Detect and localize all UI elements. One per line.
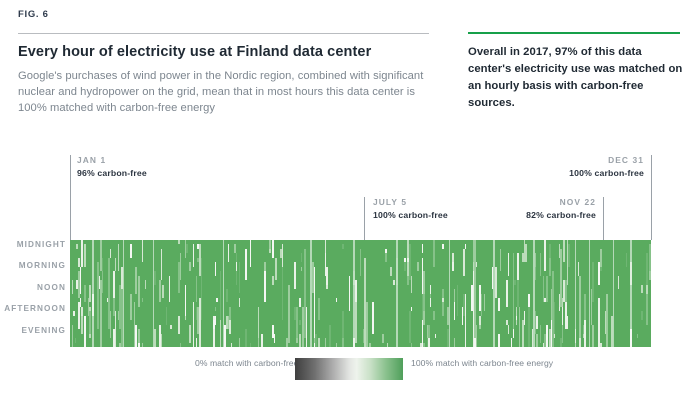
heatmap-cell-block <box>154 329 156 347</box>
heatmap-cell-block <box>649 244 651 271</box>
heatmap-cell-block <box>226 289 228 302</box>
heatmap-cell-block <box>102 258 104 271</box>
y-axis-label-noon: NOON <box>0 281 66 302</box>
heatmap-cell-block <box>154 271 156 284</box>
heatmap-cell-block <box>84 285 86 303</box>
legend-max-label: 100% match with carbon-free energy <box>411 357 521 369</box>
heatmap-cell-block <box>161 334 163 347</box>
heatmap-cell-block <box>264 271 266 302</box>
heatmap-low-match-day <box>613 240 615 347</box>
heatmap-cell-block <box>215 307 217 311</box>
heatmap-low-match-day <box>310 240 312 347</box>
heatmap-cell-block <box>372 302 374 333</box>
heatmap-cell-block <box>80 267 82 294</box>
heatmap-cell-block <box>433 311 435 320</box>
heatmap-cell-block <box>513 329 515 338</box>
heatmap-low-match-day <box>153 240 155 347</box>
heatmap-low-match-day <box>92 240 94 347</box>
heatmap-cell-block <box>385 249 387 253</box>
heatmap-cell-block <box>180 253 182 280</box>
heatmap-cell-block <box>89 311 91 333</box>
heatmap-cell-block <box>97 262 99 329</box>
heatmap-cell-block <box>559 307 561 311</box>
figure-callout: Overall in 2017, 97% of this data center… <box>468 44 684 112</box>
figure-subtitle: Google's purchases of wind power in the … <box>18 68 430 117</box>
annotation-value: 96% carbon-free <box>77 168 147 178</box>
heatmap-cell-block <box>138 329 140 342</box>
heatmap-cell-block <box>110 249 112 258</box>
heatmap-cell-block <box>387 343 389 347</box>
heatmap-cell-block <box>215 316 217 325</box>
callout-accent-rule <box>468 32 680 34</box>
heatmap-cell-block <box>498 298 500 311</box>
heatmap-cell-block <box>180 343 182 347</box>
heatmap-cell-block <box>220 320 222 347</box>
heatmap-cell-block <box>336 298 338 302</box>
heatmap-cell-block <box>336 343 338 347</box>
heatmap-cell-block <box>567 316 569 329</box>
heatmap-cell-block <box>306 307 308 347</box>
heatmap-cell-block <box>465 244 467 248</box>
annotation-nov-22: NOV 22 82% carbon-free <box>465 197 596 220</box>
heatmap-cell-block <box>562 307 564 325</box>
heatmap-cell-block <box>433 240 435 267</box>
heatmap-cell-block <box>592 325 594 347</box>
heatmap-cell-block <box>479 316 481 325</box>
annotation-july-5: JULY 5 100% carbon-free <box>373 197 448 220</box>
heatmap-cell-block <box>618 276 620 289</box>
heatmap-cell-block <box>130 244 132 257</box>
heatmap-cell-block <box>528 307 530 347</box>
heatmap-cell-block <box>540 253 542 275</box>
heatmap-low-match-day <box>589 240 591 347</box>
heatmap-cell-block <box>454 338 456 347</box>
heatmap-low-match-day <box>123 240 125 347</box>
heatmap-cell-block <box>536 334 538 347</box>
heatmap-cell-block <box>185 285 187 316</box>
heatmap-cell-block <box>481 294 483 316</box>
annotation-date: JULY 5 <box>373 197 448 207</box>
heatmap-cell-block <box>325 338 327 347</box>
heatmap-cell-block <box>476 325 478 347</box>
heatmap-cell-block <box>349 276 351 312</box>
heatmap-cell-block <box>457 285 459 316</box>
heatmap-cell-block <box>228 244 230 262</box>
annotation-jan-1: JAN 1 96% carbon-free <box>77 155 147 178</box>
heatmap-cell-block <box>299 298 301 307</box>
heatmap-cell-block <box>231 343 233 347</box>
heatmap-cell-block <box>536 316 538 329</box>
heatmap-cell-block <box>81 316 83 334</box>
heatmap-cell-block <box>135 267 137 294</box>
heatmap-cell-block <box>166 307 168 325</box>
heatmap-cell-block <box>626 253 628 266</box>
heatmap-cell-block <box>546 325 548 347</box>
heatmap-cell-block <box>250 343 252 347</box>
heatmap-cell-block <box>479 325 481 329</box>
heatmap-cell-block <box>525 244 527 262</box>
heatmap-cell-block <box>118 244 120 271</box>
heatmap-cell-block <box>299 334 301 347</box>
heatmap-cell-block <box>646 253 648 284</box>
heatmap-low-match-day <box>630 240 632 347</box>
heatmap-cell-block <box>84 244 86 266</box>
heatmap-cell-block <box>454 289 456 302</box>
heatmap-cell-block <box>366 302 368 347</box>
heatmap-cell-block <box>646 294 648 325</box>
y-axis-labels: MIDNIGHT MORNING NOON AFTERNOON EVENING <box>0 238 66 345</box>
heatmap-cell-block <box>423 343 425 347</box>
heatmap-cell-block <box>422 244 424 253</box>
heatmap-cell-block <box>430 294 432 298</box>
heatmap-cell-block <box>193 302 195 347</box>
heatmap-cell-block <box>411 343 413 347</box>
annotation-tick-nov-22 <box>603 197 604 240</box>
heatmap-cell-block <box>170 325 172 329</box>
y-axis-label-midnight: MIDNIGHT <box>0 238 66 259</box>
heatmap-cell-block <box>329 325 331 347</box>
heatmap-cell-block <box>142 343 144 347</box>
heatmap-cell-block <box>196 276 198 303</box>
heatmap-cell-block <box>554 302 556 333</box>
heatmap-cell-block <box>239 298 241 307</box>
heatmap-cell-block <box>282 258 284 320</box>
annotation-value: 100% carbon-free <box>510 168 644 178</box>
heatmap-cell-block <box>159 280 161 302</box>
heatmap-cell-block <box>236 262 238 271</box>
heatmap-cell-block <box>409 311 411 342</box>
heatmap-cell-block <box>274 334 276 343</box>
heatmap-cell-block <box>81 240 83 267</box>
heatmap-cell-block <box>102 271 104 293</box>
heatmap-cell-block <box>540 325 542 343</box>
annotation-date: NOV 22 <box>465 197 596 207</box>
heatmap-cell-block <box>318 338 320 347</box>
heatmap-cell-block <box>562 325 564 343</box>
heatmap-cell-block <box>178 240 180 244</box>
heatmap-cell-block <box>215 262 217 275</box>
heatmap-cell-block <box>115 311 117 347</box>
heatmap-cell-block <box>84 316 86 347</box>
heatmap-cell-block <box>465 294 467 348</box>
annotation-tick-july-5 <box>364 197 365 240</box>
header-divider <box>18 33 429 34</box>
heatmap-cell-block <box>275 258 277 280</box>
heatmap-cell-block <box>404 262 406 271</box>
heatmap-cell-block <box>423 294 425 312</box>
y-axis-label-evening: EVENING <box>0 324 66 345</box>
heatmap-cell-block <box>428 338 430 347</box>
y-axis-label-afternoon: AFTERNOON <box>0 302 66 323</box>
heatmap-cell-block <box>72 325 74 347</box>
heatmap-cell-block <box>239 338 241 347</box>
heatmap-cell-block <box>89 285 91 303</box>
heatmap-cell-block <box>454 302 456 320</box>
y-axis-label-morning: MORNING <box>0 259 66 280</box>
heatmap-cell-block <box>514 280 516 284</box>
heatmap-cell-block <box>508 325 510 334</box>
annotation-dec-31: DEC 31 100% carbon-free <box>510 155 644 178</box>
heatmap-cell-block <box>355 280 357 302</box>
heatmap-cell-block <box>500 249 502 271</box>
heatmap-cell-block <box>78 258 80 267</box>
heatmap-cell-block <box>355 302 357 342</box>
heatmap-cell-block <box>606 294 608 348</box>
heatmap-cell-block <box>411 276 413 294</box>
heatmap-cell-block <box>272 240 274 258</box>
heatmap-cell-block <box>315 334 317 347</box>
heatmap-cell-block <box>169 276 171 303</box>
heatmap-cell-block <box>229 307 231 320</box>
heatmap-cell-block <box>142 298 144 302</box>
annotation-tick-jan-1 <box>70 155 71 240</box>
heatmap-cell-block <box>72 280 74 293</box>
heatmap-low-match-day <box>493 240 495 347</box>
heatmap-cell-block <box>563 240 565 262</box>
heatmap-cell-block <box>326 285 328 289</box>
heatmap-cell-block <box>584 294 586 321</box>
heatmap-cell-block <box>390 267 392 276</box>
colorscale-legend: 0% match with carbon-free energy 100% ma… <box>195 357 515 387</box>
heatmap-low-match-day <box>396 240 398 347</box>
heatmap-cell-block <box>598 298 600 347</box>
heatmap-cell-block <box>110 311 112 338</box>
heatmap-cell-block <box>417 262 419 271</box>
heatmap-cell-block <box>508 253 510 275</box>
heatmap-cell-block <box>250 240 252 267</box>
annotation-value: 100% carbon-free <box>373 210 448 220</box>
heatmap-low-match-day <box>223 240 225 347</box>
hourly-match-heatmap <box>70 240 651 347</box>
heatmap-cell-block <box>519 307 521 325</box>
heatmap-cell-block <box>474 240 476 338</box>
heatmap-cell-block <box>245 249 247 280</box>
heatmap-cell-block <box>301 253 303 262</box>
heatmap-cell-block <box>369 343 371 347</box>
heatmap-cell-block <box>258 338 260 342</box>
heatmap-cell-block <box>296 338 298 342</box>
heatmap-cell-block <box>115 258 117 271</box>
heatmap-cell-block <box>411 307 413 311</box>
heatmap-cell-block <box>637 334 639 338</box>
heatmap-cell-block <box>579 311 581 338</box>
legend-min-label: 0% match with carbon-free energy <box>195 357 287 369</box>
heatmap-cell-block <box>546 276 548 303</box>
heatmap-cell-block <box>524 311 526 324</box>
heatmap-cell-block <box>495 267 497 298</box>
figure-label: FIG. 6 <box>18 9 49 20</box>
heatmap-cell-block <box>511 338 513 347</box>
legend-gradient-bar <box>295 358 403 380</box>
heatmap-cell-block <box>452 262 454 271</box>
heatmap-cell-block <box>189 325 191 343</box>
heatmap-cell-block <box>592 262 594 302</box>
annotation-value: 82% carbon-free <box>465 210 596 220</box>
heatmap-cell-block <box>516 316 518 320</box>
heatmap-cell-block <box>463 249 465 276</box>
heatmap-cell-block <box>393 280 395 284</box>
annotation-tick-dec-31 <box>651 155 652 240</box>
heatmap-cell-block <box>506 280 508 307</box>
heatmap-cell-block <box>145 280 147 289</box>
heatmap-low-match-day <box>449 240 451 347</box>
heatmap-cell-block <box>261 334 263 347</box>
heatmap-cell-block <box>544 240 546 271</box>
heatmap-cell-block <box>161 249 163 280</box>
heatmap-cell-block <box>186 244 188 253</box>
heatmap-cell-block <box>641 311 643 320</box>
heatmap-cell-block <box>442 298 444 302</box>
heatmap-cell-block <box>301 267 303 271</box>
heatmap-cell-block <box>484 294 486 312</box>
heatmap-low-match-day <box>575 240 577 347</box>
heatmap-cell-block <box>360 249 362 276</box>
heatmap-cell-block <box>239 262 241 293</box>
heatmap-cell-block <box>178 316 180 334</box>
heatmap-cell-block <box>142 240 144 262</box>
heatmap-cell-block <box>600 249 602 267</box>
heatmap-cell-block <box>201 258 203 320</box>
heatmap-cell-block <box>326 267 328 285</box>
heatmap-cell-block <box>75 338 77 342</box>
heatmap-cell-block <box>80 298 82 307</box>
heatmap-cell-block <box>269 249 271 253</box>
heatmap-cell-block <box>442 244 444 248</box>
annotation-date: JAN 1 <box>77 155 147 165</box>
heatmap-cell-block <box>517 276 519 307</box>
heatmap-cell-block <box>216 298 218 302</box>
heatmap-cell-block <box>498 334 500 347</box>
heatmap-cell-block <box>272 276 274 285</box>
heatmap-cell-block <box>517 253 519 280</box>
heatmap-cell-block <box>442 289 444 316</box>
heatmap-cell-block <box>554 334 556 338</box>
heatmap-cell-block <box>288 285 290 339</box>
heatmap-cell-block <box>73 311 75 315</box>
heatmap-cell-block <box>385 253 387 262</box>
figure-panel: FIG. 6 Every hour of electricity use at … <box>0 0 687 414</box>
heatmap-cell-block <box>135 325 137 347</box>
heatmap-cell-block <box>568 244 570 266</box>
heatmap-cell-block <box>294 262 296 289</box>
heatmap-cell-block <box>600 343 602 347</box>
heatmap-cell-block <box>342 311 344 338</box>
heatmap-cell-block <box>162 285 164 298</box>
heatmap-cell-block <box>578 262 580 275</box>
annotation-date: DEC 31 <box>510 155 644 165</box>
heatmap-cell-block <box>234 244 236 253</box>
heatmap-cell-block <box>299 320 301 324</box>
heatmap-cell-block <box>193 244 195 266</box>
heatmap-cell-block <box>189 267 191 271</box>
heatmap-cell-block <box>519 325 521 347</box>
heatmap-cell-block <box>138 276 140 307</box>
page-title: Every hour of electricity use at Finland… <box>18 44 438 60</box>
heatmap-cell-block <box>282 244 284 266</box>
heatmap-cell-block <box>245 329 247 347</box>
heatmap-cell-block <box>513 253 515 333</box>
heatmap-cell-block <box>549 244 551 257</box>
heatmap-cell-block <box>76 244 78 248</box>
heatmap-low-match-day <box>533 240 535 347</box>
heatmap-cell-block <box>258 307 260 338</box>
heatmap-cell-block <box>196 338 198 347</box>
heatmap-cell-block <box>318 298 320 320</box>
heatmap-cell-block <box>130 294 132 321</box>
heatmap-low-match-day <box>353 240 355 347</box>
heatmap-cell-block <box>535 267 537 280</box>
heatmap-cell-block <box>435 334 437 338</box>
heatmap-cell-block <box>342 244 344 248</box>
heatmap-cell-block <box>382 334 384 343</box>
heatmap-cell-block <box>476 262 478 266</box>
heatmap-cell-block <box>296 307 298 338</box>
heatmap-cell-block <box>641 285 643 294</box>
